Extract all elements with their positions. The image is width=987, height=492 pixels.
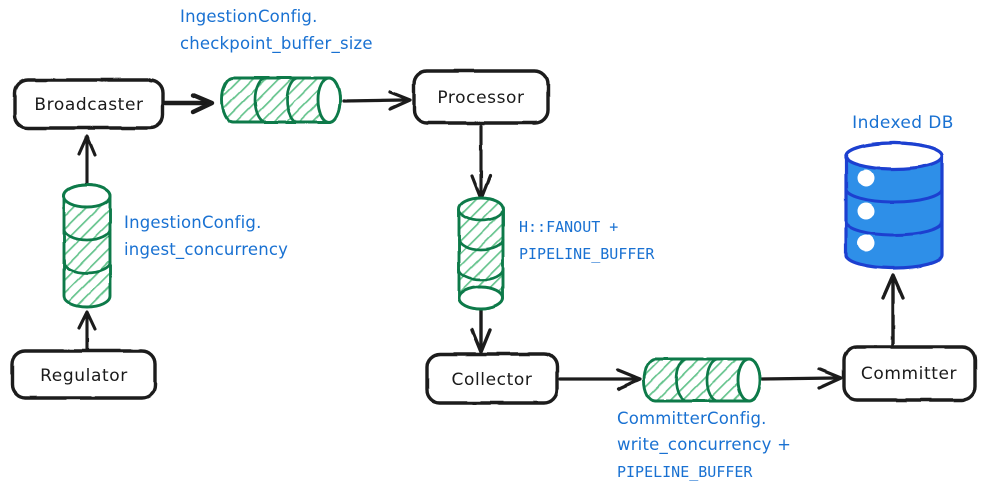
pipeline-diagram: Broadcaster Processor Regulator Collecto…	[0, 0, 987, 492]
buffer-cap	[64, 185, 110, 207]
buffer-checkpoint-buffer	[222, 78, 340, 122]
edge-regulator-to-ingest-buffer	[79, 312, 95, 350]
buffer-cap	[459, 287, 503, 309]
annotation-line: write_concurrency +	[617, 435, 791, 455]
annotation-line: CommitterConfig.	[617, 409, 767, 428]
indexed-db-title: Indexed DB	[852, 113, 954, 133]
annotation-checkpoint-buffer-label: IngestionConfig. checkpoint_buffer_size	[180, 7, 373, 54]
annotation-ingest-buffer-label: IngestionConfig. ingest_concurrency	[124, 213, 288, 260]
annotation-line: H::FANOUT +	[519, 218, 618, 236]
buffer-write-buffer	[644, 359, 760, 401]
buffer-cap	[318, 78, 340, 122]
buffer-fanout-buffer	[459, 198, 503, 309]
indexed-db[interactable]	[846, 143, 942, 268]
annotation-line: PIPELINE_BUFFER	[617, 463, 753, 481]
buffer-ingest-buffer	[64, 185, 110, 307]
annotation-line: PIPELINE_BUFFER	[519, 245, 655, 263]
annotation-line: IngestionConfig.	[180, 7, 318, 26]
annotation-line: IngestionConfig.	[124, 213, 262, 232]
annotation-write-buffer-label: CommitterConfig. write_concurrency + PIP…	[617, 409, 791, 481]
node-label-processor: Processor	[437, 88, 524, 108]
annotation-fanout-buffer-label: H::FANOUT + PIPELINE_BUFFER	[519, 218, 655, 263]
node-label-collector: Collector	[452, 370, 533, 390]
indexed-db-top	[846, 143, 942, 169]
edge-broadcaster-to-checkpoint-buffer	[165, 95, 212, 112]
buffer-cap	[738, 359, 760, 401]
annotation-line: checkpoint_buffer_size	[180, 34, 373, 54]
indexed-db-indicator	[858, 203, 875, 220]
annotation-line: ingest_concurrency	[124, 240, 288, 260]
node-label-regulator: Regulator	[40, 366, 128, 386]
node-label-committer: Committer	[861, 364, 957, 384]
diagram-canvas: Broadcaster Processor Regulator Collecto…	[0, 0, 987, 492]
indexed-db-indicator	[858, 170, 875, 187]
edge-checkpoint-buffer-to-processor	[344, 92, 410, 109]
edge-processor-to-fanout-buffer	[472, 126, 490, 199]
indexed-db-indicator	[858, 235, 875, 252]
edge-ingest-buffer-to-broadcaster	[79, 136, 95, 184]
edge-write-buffer-to-committer	[762, 369, 841, 388]
edge-collector-to-write-buffer	[560, 370, 640, 389]
edge-committer-to-indexed-db	[883, 275, 903, 344]
node-label-broadcaster: Broadcaster	[34, 95, 143, 115]
